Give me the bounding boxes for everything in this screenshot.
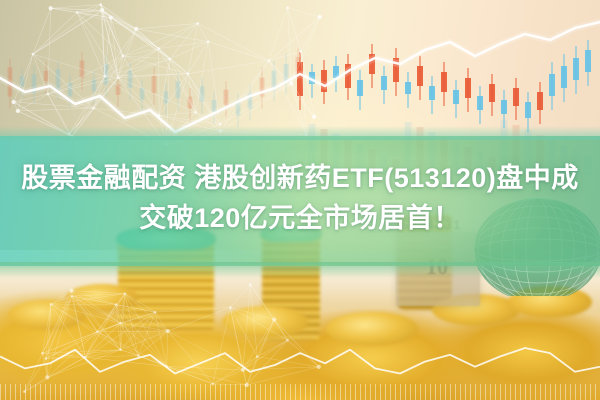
headline: 股票金融配资 港股创新药ETF(513120)盘中成 交破120亿元全市场居首！ [0, 158, 600, 238]
news-banner-image: 5594731 10 股票金融配资 港股 [0, 0, 600, 400]
tick-ruler [0, 384, 600, 400]
band-fade-bottom [0, 262, 600, 278]
lower-line-chart [0, 330, 600, 392]
headline-line-2: 交破120亿元全市场居首！ [0, 198, 600, 238]
band-fade-top [0, 126, 600, 140]
headline-line-1: 股票金融配资 港股创新药ETF(513120)盘中成 [0, 158, 600, 198]
